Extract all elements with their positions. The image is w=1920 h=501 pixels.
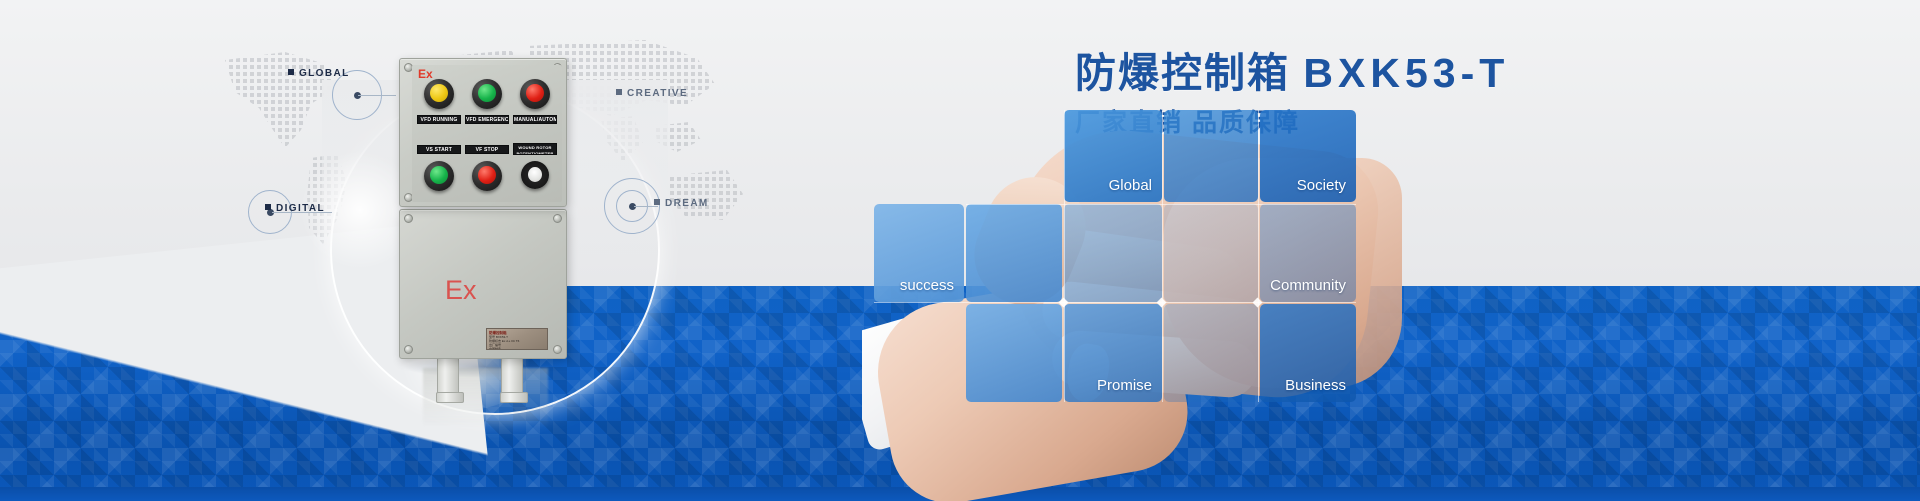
grid-line-v2 <box>1162 110 1163 402</box>
tile-blank-b <box>1164 110 1258 202</box>
screw-icon <box>404 345 413 354</box>
tag-square-icon <box>288 69 294 75</box>
label-vfd-emergency: VFD EMERGENCY <box>465 115 509 124</box>
lamp-glyph <box>478 84 496 102</box>
grid-line-v3 <box>1258 110 1259 402</box>
screw-icon <box>553 214 562 223</box>
tile-global: Global <box>1064 110 1162 202</box>
tile-promise: Promise <box>1064 304 1162 402</box>
tile-community-label: Community <box>1270 277 1346 294</box>
tag-dream: DREAM <box>654 198 709 209</box>
tag-creative: CREATIVE <box>616 88 688 99</box>
tag-digital: DIGITAL <box>265 203 325 214</box>
tile-business: Business <box>1260 304 1356 402</box>
tile-business-label: Business <box>1285 377 1346 394</box>
tile-blank-e <box>966 304 1062 402</box>
tile-community: Community <box>1260 204 1356 302</box>
grid-line-h1 <box>966 204 1356 205</box>
lamp-glyph <box>430 84 448 102</box>
handshake-mosaic: success Global Society Community Promise… <box>862 118 1422 501</box>
tag-creative-label: CREATIVE <box>627 88 688 99</box>
ex-marking-body: Ex <box>445 275 477 306</box>
tile-success: success <box>874 204 964 302</box>
node-line-global <box>358 95 396 96</box>
product-nameplate: 防爆控制箱 型号 BXK53-T 防爆标志 Ex d e IIC T6 出厂编号… <box>486 328 548 350</box>
label-manual-automatic: MANUAL/AUTOMATIC <box>513 115 557 124</box>
headline-row: 防爆控制箱 BXK53-T <box>1075 50 1509 97</box>
tag-square-icon <box>616 89 622 95</box>
headline-chinese: 防爆控制箱 <box>1075 50 1290 96</box>
lamp-glyph <box>526 84 544 102</box>
nameplate-line4: 中国制造 <box>489 347 545 350</box>
knob-label-line-2: POTENTIOMETER <box>514 151 556 156</box>
indicator-vfd-running[interactable] <box>424 79 454 109</box>
screw-icon <box>553 345 562 354</box>
cable-gland-left <box>437 354 459 400</box>
tile-blank-f <box>1164 304 1258 402</box>
knob-label-line-1: WOUND ROTOR <box>514 145 556 151</box>
product-banner: GLOBAL CREATIVE DIGITAL DREAM Ex 防爆控制箱 型… <box>0 0 1920 501</box>
tile-blank-a <box>966 204 1062 302</box>
tile-success-label: success <box>900 277 954 294</box>
headline-model: BXK53-T <box>1303 50 1509 96</box>
grid-line-h2 <box>874 302 1356 303</box>
product-control-box: Ex 防爆控制箱 型号 BXK53-T 防爆标志 Ex d e IIC T6 出… <box>393 58 573 388</box>
tag-global: GLOBAL <box>288 68 350 79</box>
button-vf-stop[interactable] <box>472 161 502 191</box>
label-vs-start: VS START <box>417 145 461 154</box>
tile-promise-label: Promise <box>1097 377 1152 394</box>
label-vf-stop: VF STOP <box>465 145 509 154</box>
knob-wound-rotor-potentiometer[interactable] <box>521 161 549 189</box>
tag-square-icon <box>654 199 660 205</box>
label-vfd-running: VFD RUNNING <box>417 115 461 124</box>
button-vs-start[interactable] <box>424 161 454 191</box>
tile-blank-c <box>1064 204 1162 302</box>
tag-square-icon <box>265 204 271 210</box>
cable-gland-right <box>501 354 523 400</box>
indicator-manual-automatic[interactable] <box>520 79 550 109</box>
tile-blank-d <box>1164 204 1258 302</box>
button-glyph <box>430 166 448 184</box>
label-wound-rotor-potentiometer: WOUND ROTOR POTENTIOMETER <box>513 143 557 155</box>
tag-digital-label: DIGITAL <box>276 203 325 214</box>
grid-line-v1 <box>1064 110 1065 402</box>
tile-society-label: Society <box>1297 177 1346 194</box>
enclosure-lower-body: Ex 防爆控制箱 型号 BXK53-T 防爆标志 Ex d e IIC T6 出… <box>399 209 567 359</box>
tile-global-label: Global <box>1109 177 1152 194</box>
tag-global-label: GLOBAL <box>299 68 350 79</box>
tile-society: Society <box>1260 110 1356 202</box>
enclosure-control-panel: Ex VFD RUNNING VFD EMERGENCY MANUAL/AUTO… <box>399 58 567 207</box>
button-glyph <box>478 166 496 184</box>
tag-dream-label: DREAM <box>665 198 709 209</box>
screw-icon <box>404 214 413 223</box>
panel-face: Ex VFD RUNNING VFD EMERGENCY MANUAL/AUTO… <box>412 65 562 202</box>
indicator-vfd-emergency[interactable] <box>472 79 502 109</box>
ex-marking-panel: Ex <box>418 67 433 81</box>
